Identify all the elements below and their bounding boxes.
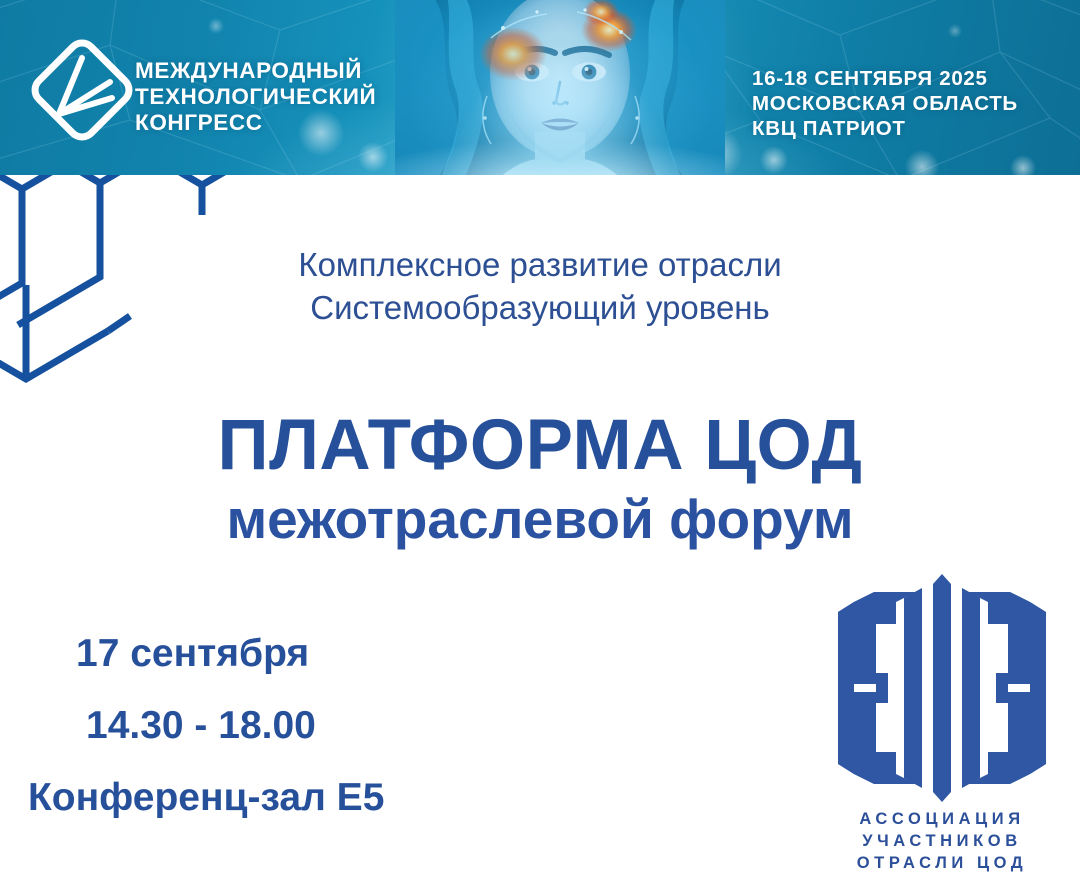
event-details: 17 сентября 14.30 - 18.00 Конференц-зал … (28, 628, 478, 824)
association-logo: АССОЦИАЦИЯ УЧАСТНИКОВ ОТРАСЛИ ЦОД (818, 572, 1066, 884)
subtitle-line-1: Комплексное развитие отрасли (0, 243, 1080, 286)
association-name-line-1: АССОЦИАЦИЯ (818, 808, 1066, 830)
event-meta: 16-18 СЕНТЯБРЯ 2025 МОСКОВСКАЯ ОБЛАСТЬ К… (752, 66, 1018, 141)
poster-subtitle: Комплексное развитие отрасли Системообра… (0, 243, 1080, 329)
association-name-line-2: УЧАСТНИКОВ (818, 830, 1066, 852)
page-subtitle: межотраслевой форум (0, 486, 1080, 552)
detail-hall: Конференц-зал E5 (28, 772, 478, 824)
association-hex-emblem-icon (818, 572, 1066, 804)
subtitle-line-2: Системообразующий уровень (0, 286, 1080, 329)
cyber-face-artwork (395, 0, 725, 175)
event-region: МОСКОВСКАЯ ОБЛАСТЬ (752, 91, 1018, 116)
congress-name-line-3: КОНГРЕСС (135, 110, 376, 136)
poster-title-block: ПЛАТФОРМА ЦОД межотраслевой форум (0, 408, 1080, 552)
congress-name-line-2: ТЕХНОЛОГИЧЕСКИЙ (135, 84, 376, 110)
association-name-line-3: ОТРАСЛИ ЦОД (818, 852, 1066, 874)
poster-root: МЕЖДУНАРОДНЫЙ ТЕХНОЛОГИЧЕСКИЙ КОНГРЕСС 1… (0, 0, 1080, 892)
page-title: ПЛАТФОРМА ЦОД (0, 408, 1080, 484)
congress-name: МЕЖДУНАРОДНЫЙ ТЕХНОЛОГИЧЕСКИЙ КОНГРЕСС (135, 58, 376, 136)
detail-time: 14.30 - 18.00 (28, 700, 478, 752)
header-banner: МЕЖДУНАРОДНЫЙ ТЕХНОЛОГИЧЕСКИЙ КОНГРЕСС 1… (0, 0, 1080, 175)
congress-name-line-1: МЕЖДУНАРОДНЫЙ (135, 58, 376, 84)
association-name: АССОЦИАЦИЯ УЧАСТНИКОВ ОТРАСЛИ ЦОД (818, 808, 1066, 874)
event-dates: 16-18 СЕНТЯБРЯ 2025 (752, 66, 1018, 91)
event-venue: КВЦ ПАТРИОТ (752, 116, 1018, 141)
congress-logo-icon (26, 34, 138, 146)
face-glow-overlay (395, 0, 725, 175)
detail-date: 17 сентября (28, 628, 478, 680)
